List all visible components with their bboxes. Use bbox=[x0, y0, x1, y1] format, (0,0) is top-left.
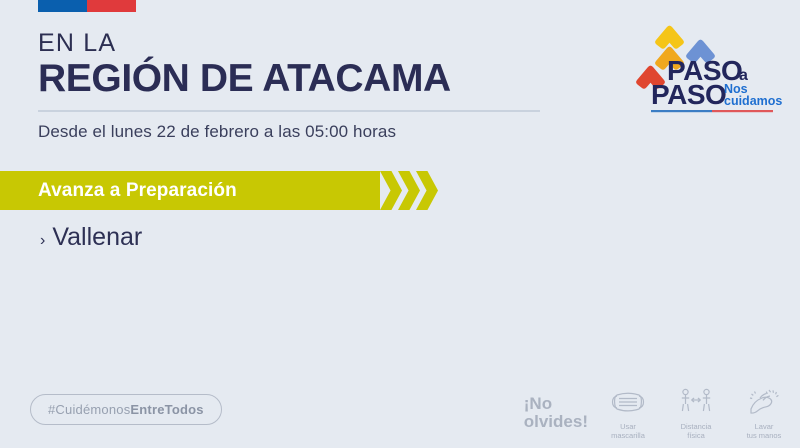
logo-tagline-line2: cuidamos bbox=[724, 94, 782, 108]
chevron-yellow-icon bbox=[655, 26, 684, 49]
paso-a-paso-poster: EN LA REGIÓN DE ATACAMA Desde el lunes 2… bbox=[0, 0, 800, 448]
banner-chevron-icon-1 bbox=[380, 171, 402, 210]
wash-hands-icon bbox=[747, 385, 781, 419]
reminder-label: Lavar tus manos bbox=[747, 422, 782, 441]
paso-a-paso-logo: PASO a PASO Nos cuidamos bbox=[634, 14, 792, 114]
hashtag-badge: #CuidémonosEntreTodos bbox=[30, 394, 222, 425]
title-divider bbox=[38, 110, 540, 112]
reminder-label: Distancia física bbox=[681, 422, 712, 441]
hashtag-prefix: #Cuidémonos bbox=[48, 402, 130, 417]
headline-block: EN LA REGIÓN DE ATACAMA Desde el lunes 2… bbox=[38, 30, 598, 142]
reminders-group: ¡No olvides! Usar mascarilla bbox=[524, 385, 792, 441]
phase-banner-label: Avanza a Preparación bbox=[38, 171, 237, 210]
face-mask-icon bbox=[611, 385, 645, 419]
physical-distance-icon bbox=[679, 385, 713, 419]
logo-rule-red bbox=[712, 110, 773, 112]
flag-blue-block bbox=[38, 0, 87, 12]
reminder-distance: Distancia física bbox=[668, 385, 724, 441]
reminder-wash-hands: Lavar tus manos bbox=[736, 385, 792, 441]
logo-paso-line2: PASO bbox=[651, 79, 726, 110]
reminder-label: Usar mascarilla bbox=[611, 422, 645, 441]
flag-red-block bbox=[87, 0, 136, 12]
page-title: REGIÓN DE ATACAMA bbox=[38, 57, 598, 101]
phase-banner: Avanza a Preparación bbox=[0, 171, 432, 210]
list-item: › Vallenar bbox=[40, 222, 142, 253]
reminder-mask: Usar mascarilla bbox=[600, 385, 656, 441]
hashtag-bold: EntreTodos bbox=[130, 402, 203, 417]
logo-rule-blue bbox=[651, 110, 712, 112]
no-olvides-heading: ¡No olvides! bbox=[524, 385, 588, 431]
chile-flag-bar bbox=[38, 0, 136, 12]
eyebrow-text: EN LA bbox=[38, 30, 598, 56]
comuna-name: Vallenar bbox=[52, 222, 142, 253]
comuna-list: › Vallenar bbox=[40, 222, 142, 253]
chevron-right-icon: › bbox=[40, 231, 45, 251]
effective-date-text: Desde el lunes 22 de febrero a las 05:00… bbox=[38, 122, 598, 142]
